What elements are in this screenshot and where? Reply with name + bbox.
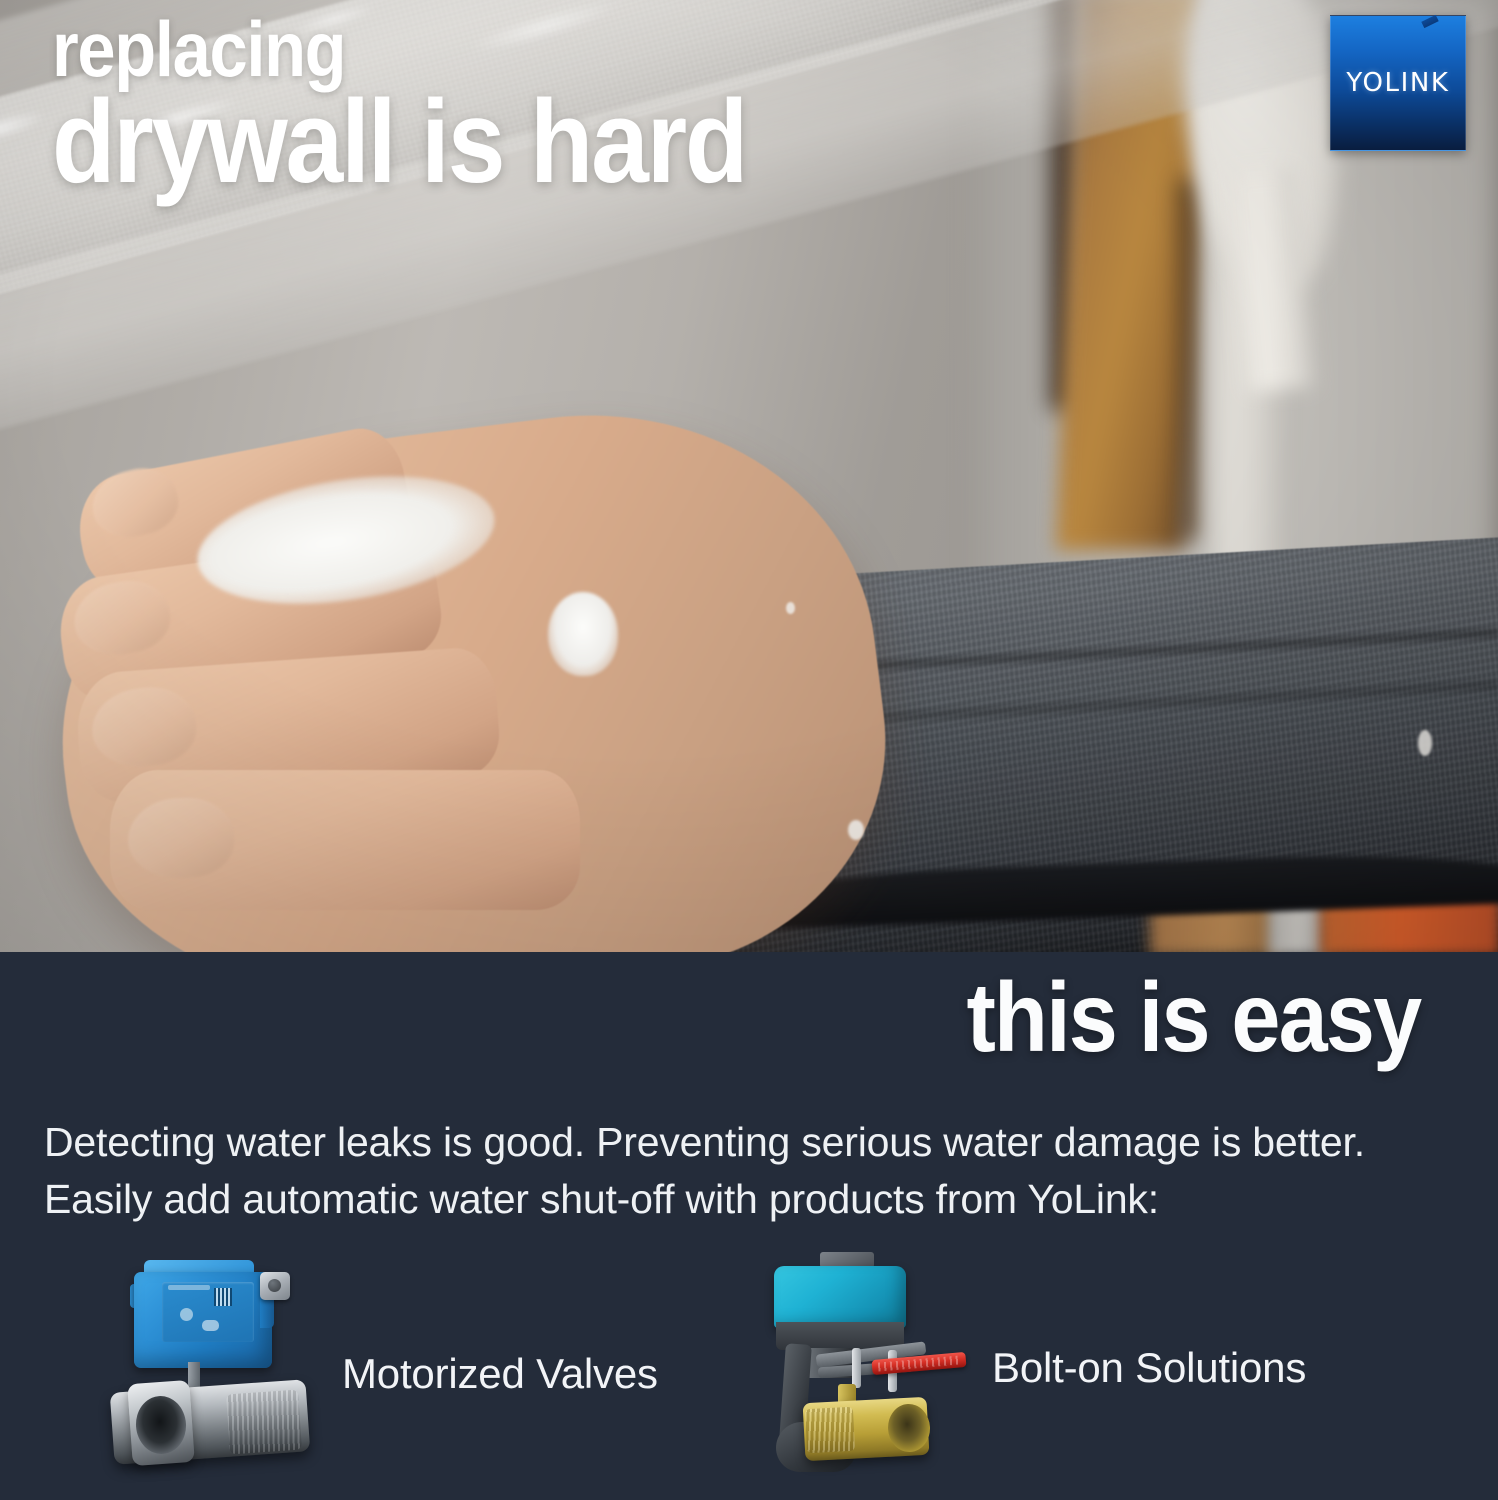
brass-valve-threads [805, 1407, 855, 1453]
yolink-logo-text: YOLINK [1346, 68, 1449, 98]
product-label-motorized-valves: Motorized Valves [342, 1350, 658, 1398]
bolton-actuator-housing [774, 1266, 906, 1328]
actuator-face-panel [162, 1282, 254, 1342]
motorized-valve-icon [110, 1258, 320, 1490]
product-motorized-valves[interactable]: Motorized Valves [110, 1258, 658, 1490]
yolink-logo[interactable]: YOLINK [1330, 15, 1466, 151]
bolt-left [852, 1348, 861, 1388]
headline-line-2: drywall is hard [52, 88, 746, 197]
bolt-on-valve-icon [760, 1252, 970, 1484]
body-copy-line-1: Detecting water leaks is good. Preventin… [44, 1114, 1464, 1171]
marketing-poster: replacing drywall is hard YOLINK this is… [0, 0, 1498, 1500]
product-bolt-on-solutions[interactable]: Bolt-on Solutions [760, 1252, 1306, 1484]
compound-speck-a [848, 820, 864, 840]
cable-gland-icon [260, 1272, 290, 1300]
actuator-label [168, 1285, 210, 1290]
product-row: Motorized Valves [0, 1252, 1498, 1500]
compound-speck-b [1418, 730, 1432, 756]
compound-speck-c [786, 602, 795, 614]
body-copy: Detecting water leaks is good. Preventin… [44, 1114, 1464, 1227]
product-label-bolt-on-solutions: Bolt-on Solutions [992, 1344, 1306, 1392]
logo-n-notch [1421, 15, 1438, 28]
stud-shadow-right [1178, 180, 1204, 540]
tagline: this is easy [966, 968, 1420, 1066]
body-copy-line-2: Easily add automatic water shut-off with… [44, 1171, 1464, 1228]
actuator-indicator-dot [180, 1308, 193, 1321]
valve-threads [226, 1390, 302, 1455]
message-panel: this is easy Detecting water leaks is go… [0, 952, 1498, 1500]
qr-code-icon [214, 1288, 232, 1306]
compound-smear-wrist [548, 592, 618, 676]
headline: replacing drywall is hard [52, 14, 841, 196]
actuator-badge [202, 1320, 219, 1331]
